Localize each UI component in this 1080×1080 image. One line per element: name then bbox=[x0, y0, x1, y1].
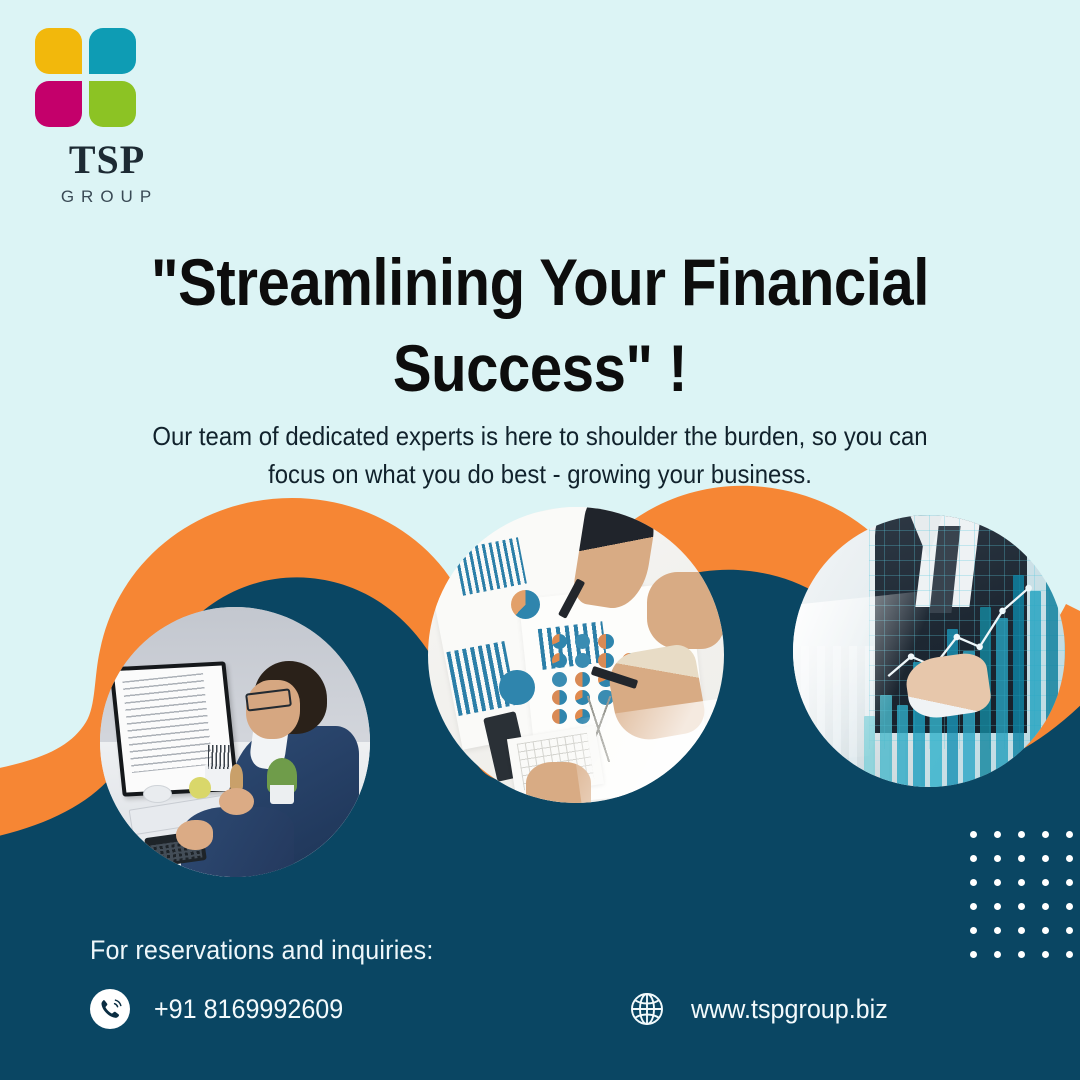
decor-dot bbox=[970, 831, 977, 838]
decor-dot bbox=[1018, 831, 1025, 838]
decor-dot bbox=[994, 879, 1001, 886]
footer-heading: For reservations and inquiries: bbox=[90, 935, 434, 966]
decor-dot bbox=[1018, 879, 1025, 886]
decor-dot bbox=[1042, 855, 1049, 862]
logo-petal-bottom-left bbox=[35, 81, 82, 127]
chart-dot bbox=[598, 653, 613, 668]
contact-website[interactable]: www.tspgroup.biz bbox=[625, 987, 903, 1031]
decor-dot bbox=[970, 903, 977, 910]
decor-dot bbox=[1018, 855, 1025, 862]
decor-dot bbox=[994, 855, 1001, 862]
decor-dot bbox=[1066, 903, 1073, 910]
footer-contact: For reservations and inquiries: +91 8169… bbox=[0, 925, 1080, 1080]
chart-dot bbox=[552, 634, 567, 649]
chart-dot bbox=[598, 634, 613, 649]
decor-dot bbox=[970, 879, 977, 886]
logo-wordmark: TSP bbox=[30, 140, 180, 180]
logo-sub-wordmark: GROUP bbox=[30, 187, 180, 207]
chart-dot bbox=[575, 672, 590, 687]
globe-icon bbox=[625, 987, 669, 1031]
decor-dot bbox=[994, 831, 1001, 838]
logo-petal-top-right bbox=[89, 28, 136, 74]
contact-phone[interactable]: +91 8169992609 bbox=[88, 987, 357, 1031]
decor-dot bbox=[1042, 879, 1049, 886]
four-petal-flower-logo-icon bbox=[35, 28, 137, 128]
decor-dot bbox=[1018, 903, 1025, 910]
chart-dot bbox=[552, 672, 567, 687]
photo-chart-analysis bbox=[428, 507, 724, 803]
decor-dot bbox=[994, 903, 1001, 910]
decor-dot bbox=[1042, 903, 1049, 910]
page-subtitle: Our team of dedicated experts is here to… bbox=[131, 418, 950, 493]
chart-dot bbox=[552, 653, 567, 668]
page-title: "Streamlining Your Financial Success" ! bbox=[144, 240, 936, 412]
logo-petal-bottom-right bbox=[89, 81, 136, 127]
brand-logo: TSP GROUP bbox=[30, 28, 180, 207]
phone-number: +91 8169992609 bbox=[154, 994, 343, 1025]
photo-accountant-desk bbox=[100, 607, 370, 877]
photo-growth-bars bbox=[793, 515, 1065, 787]
website-url: www.tspgroup.biz bbox=[691, 994, 888, 1025]
chart-dot bbox=[575, 634, 590, 649]
phone-icon bbox=[88, 987, 132, 1031]
decor-dot bbox=[1066, 831, 1073, 838]
chart-dot bbox=[575, 653, 590, 668]
logo-petal-top-left bbox=[35, 28, 82, 74]
decor-dot bbox=[1066, 879, 1073, 886]
decor-dot bbox=[1042, 831, 1049, 838]
decor-dot bbox=[970, 855, 977, 862]
decor-dot bbox=[1066, 855, 1073, 862]
poster-canvas: TSP GROUP "Streamlining Your Financial S… bbox=[0, 0, 1080, 1080]
